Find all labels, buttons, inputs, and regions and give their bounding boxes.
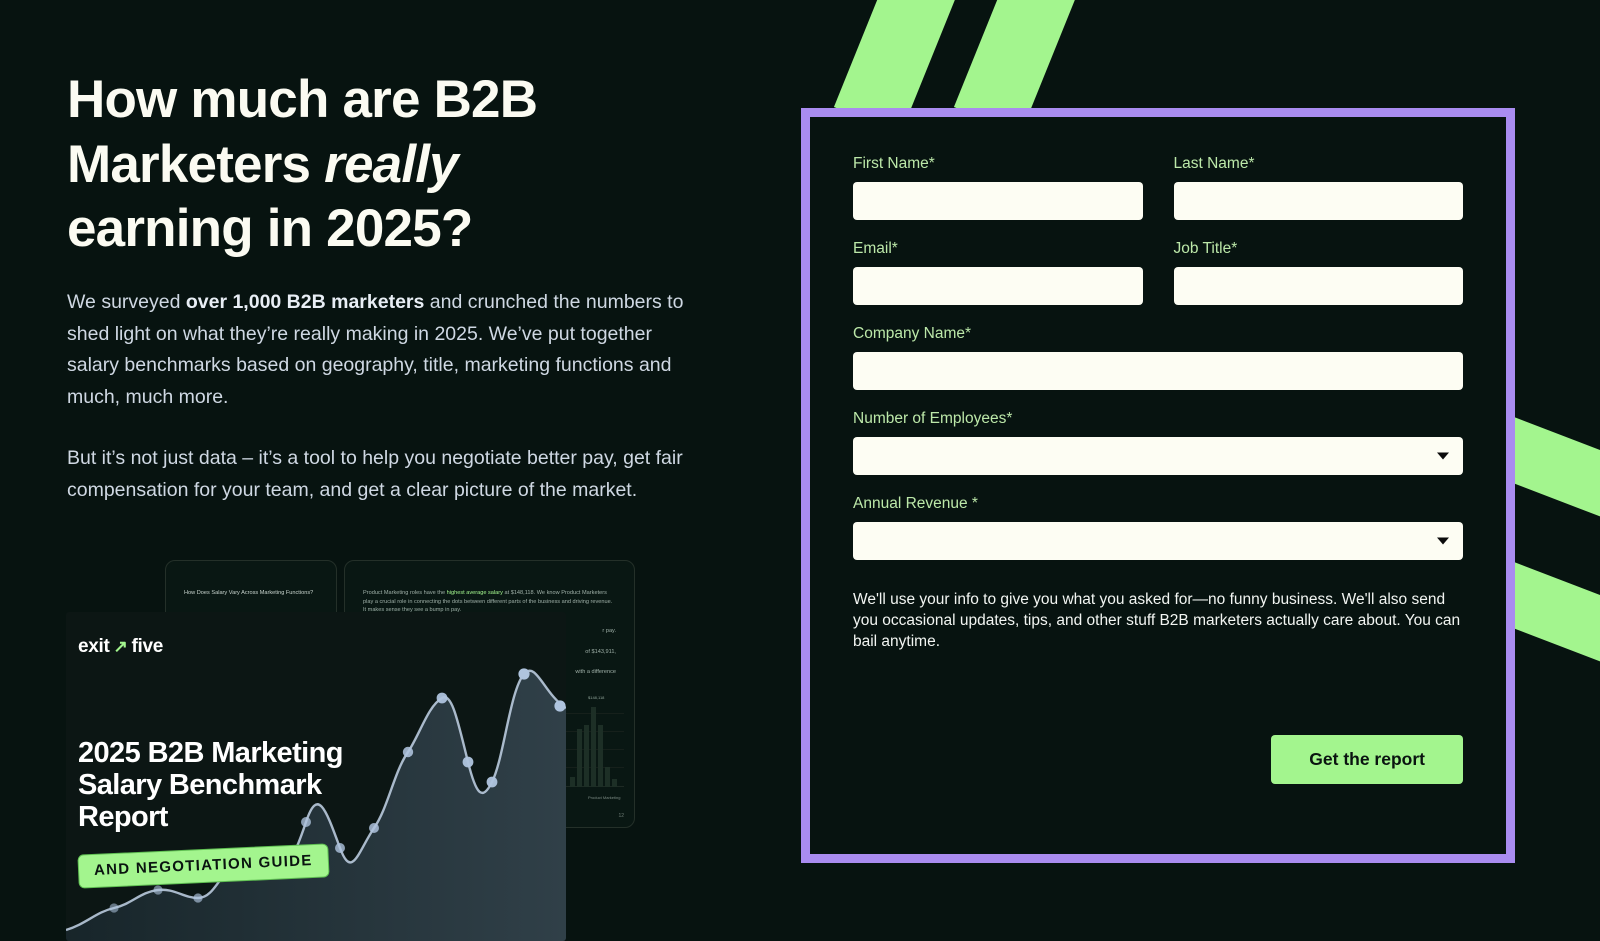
form-row-revenue: Annual Revenue *: [853, 495, 1463, 560]
field-annual-revenue: Annual Revenue *: [853, 495, 1463, 560]
field-job-title: Job Title*: [1174, 240, 1464, 305]
headline-line-2-pre: Marketers: [67, 135, 324, 194]
page-title: How much are B2B Marketers really earnin…: [67, 68, 707, 262]
privacy-disclaimer: We'll use your info to give you what you…: [853, 590, 1463, 653]
number-of-employees-select-wrap[interactable]: [853, 437, 1463, 475]
cover-title-line-1: 2025 B2B Marketing: [78, 737, 343, 769]
last-name-input[interactable]: [1174, 182, 1464, 220]
logo-text-right: five: [132, 636, 164, 658]
report-page-number: 12: [618, 813, 624, 821]
company-name-input[interactable]: [853, 352, 1463, 390]
headline-emphasis: really: [324, 135, 458, 194]
email-input[interactable]: [853, 267, 1143, 305]
hero-paragraph-2: But it’s not just data – it’s a tool to …: [67, 443, 707, 506]
first-name-input[interactable]: [853, 182, 1143, 220]
email-label: Email*: [853, 240, 1143, 258]
form-body: First Name* Last Name* Email* Job Title*: [810, 117, 1506, 854]
logo-text-left: exit: [78, 636, 110, 658]
cover-title-line-3: Report: [78, 801, 168, 833]
form-row-employees: Number of Employees*: [853, 410, 1463, 475]
annual-revenue-select[interactable]: [853, 522, 1463, 560]
report-right-body-highlight: highest average salary: [447, 590, 503, 596]
form-row-company: Company Name*: [853, 325, 1463, 390]
paragraph-1-bold: over 1,000 B2B marketers: [186, 291, 425, 313]
report-cover-front: exit ↗ five 2025 B2B Marketing Salary Be…: [66, 612, 566, 941]
field-number-of-employees: Number of Employees*: [853, 410, 1463, 475]
exit-five-logo: exit ↗ five: [78, 636, 163, 658]
landing-page: How much are B2B Marketers really earnin…: [0, 0, 1600, 941]
arrow-up-right-icon: ↗: [114, 637, 128, 657]
report-right-body-pre: Product Marketing roles have the: [363, 590, 447, 596]
number-of-employees-label: Number of Employees*: [853, 410, 1463, 428]
company-name-label: Company Name*: [853, 325, 1463, 343]
number-of-employees-select[interactable]: [853, 437, 1463, 475]
cover-title-line-2: Salary Benchmark: [78, 769, 322, 801]
field-first-name: First Name*: [853, 155, 1143, 220]
report-cover-title: 2025 B2B Marketing Salary Benchmark Repo…: [78, 738, 408, 834]
job-title-label: Job Title*: [1174, 240, 1464, 258]
hero-paragraph-1: We surveyed over 1,000 B2B marketers and…: [67, 287, 707, 413]
lead-capture-form-card: First Name* Last Name* Email* Job Title*: [801, 108, 1515, 863]
field-email: Email*: [853, 240, 1143, 305]
hero-column: How much are B2B Marketers really earnin…: [0, 0, 800, 941]
last-name-label: Last Name*: [1174, 155, 1464, 173]
submit-button-wrap: Get the report: [1271, 735, 1463, 784]
form-row-name: First Name* Last Name*: [853, 155, 1463, 220]
get-the-report-button[interactable]: Get the report: [1271, 735, 1463, 784]
first-name-label: First Name*: [853, 155, 1143, 173]
paragraph-1-pre: We surveyed: [67, 291, 186, 313]
report-mini-bar-chart: $148,118 Product Marketing: [562, 695, 624, 803]
field-last-name: Last Name*: [1174, 155, 1464, 220]
report-cover-artwork: How Does Salary Vary Across Marketing Fu…: [60, 556, 660, 941]
hero-body-copy: We surveyed over 1,000 B2B marketers and…: [67, 287, 707, 506]
mini-chart-value-label: $148,118: [588, 695, 604, 701]
form-row-email-job: Email* Job Title*: [853, 240, 1463, 305]
mini-chart-category-label: Product Marketing: [588, 795, 620, 801]
annual-revenue-select-wrap[interactable]: [853, 522, 1463, 560]
job-title-input[interactable]: [1174, 267, 1464, 305]
headline-line-3: earning in 2025?: [67, 199, 472, 258]
field-company-name: Company Name*: [853, 325, 1463, 390]
report-page-left-question: How Does Salary Vary Across Marketing Fu…: [184, 589, 318, 598]
annual-revenue-label: Annual Revenue *: [853, 495, 1463, 513]
headline-line-1: How much are B2B: [67, 70, 537, 129]
